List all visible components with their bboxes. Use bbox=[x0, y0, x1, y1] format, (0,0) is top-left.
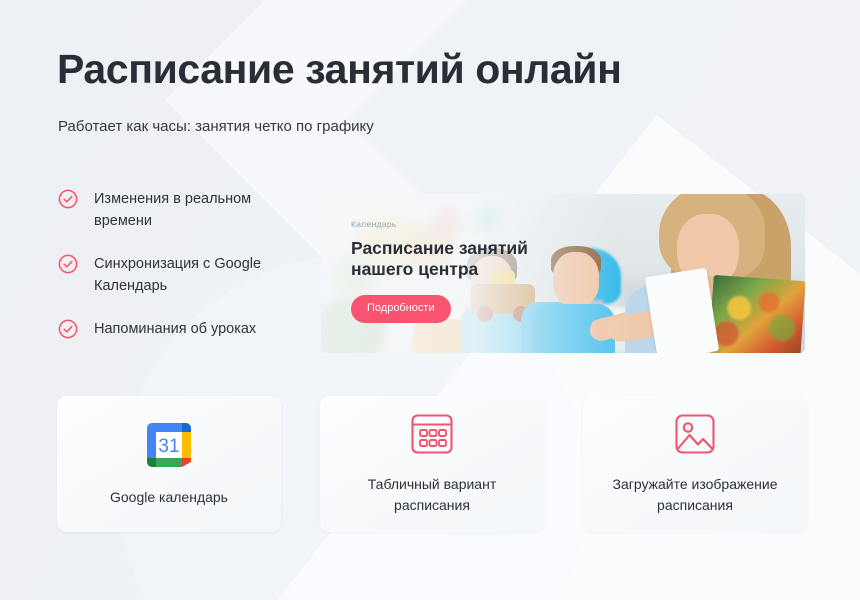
feature-cards: 31 Google календарь Табличный вариант ра… bbox=[57, 396, 807, 532]
card-label: Google календарь bbox=[110, 487, 228, 508]
landing-page: Расписание занятий онлайн Работает как ч… bbox=[0, 0, 860, 600]
list-item: Напоминания об уроках bbox=[58, 318, 308, 340]
check-circle-icon bbox=[58, 254, 78, 274]
banner-details-button[interactable]: Подробности bbox=[351, 295, 451, 323]
banner-content: Календарь Расписание занятий нашего цент… bbox=[351, 219, 581, 323]
feature-label: Напоминания об уроках bbox=[94, 318, 256, 340]
google-calendar-icon: 31 bbox=[143, 419, 195, 471]
svg-text:31: 31 bbox=[158, 436, 179, 457]
card-image-upload[interactable]: Загружайте изображение расписания bbox=[583, 396, 807, 532]
card-google-calendar[interactable]: 31 Google календарь bbox=[57, 396, 281, 532]
card-label: Загружайте изображение расписания bbox=[599, 474, 791, 516]
feature-label: Изменения в реальном времени bbox=[94, 188, 274, 232]
card-label: Табличный вариант расписания bbox=[336, 474, 528, 516]
table-schedule-icon bbox=[407, 410, 457, 458]
list-item: Изменения в реальном времени bbox=[58, 188, 308, 232]
check-circle-icon bbox=[58, 319, 78, 339]
card-table-schedule[interactable]: Табличный вариант расписания bbox=[320, 396, 544, 532]
banner-eyebrow: Календарь bbox=[351, 219, 581, 229]
page-subtitle: Работает как часы: занятия четко по граф… bbox=[58, 117, 374, 137]
image-upload-icon bbox=[671, 410, 719, 458]
banner-heading: Расписание занятий нашего центра bbox=[351, 238, 581, 280]
feature-list: Изменения в реальном времени Синхронизац… bbox=[58, 188, 308, 340]
check-circle-icon bbox=[58, 189, 78, 209]
list-item: Синхронизация с Google Календарь bbox=[58, 253, 308, 297]
feature-label: Синхронизация с Google Календарь bbox=[94, 253, 274, 297]
promo-banner[interactable]: Календарь Расписание занятий нашего цент… bbox=[321, 194, 805, 353]
page-title: Расписание занятий онлайн bbox=[57, 45, 621, 93]
